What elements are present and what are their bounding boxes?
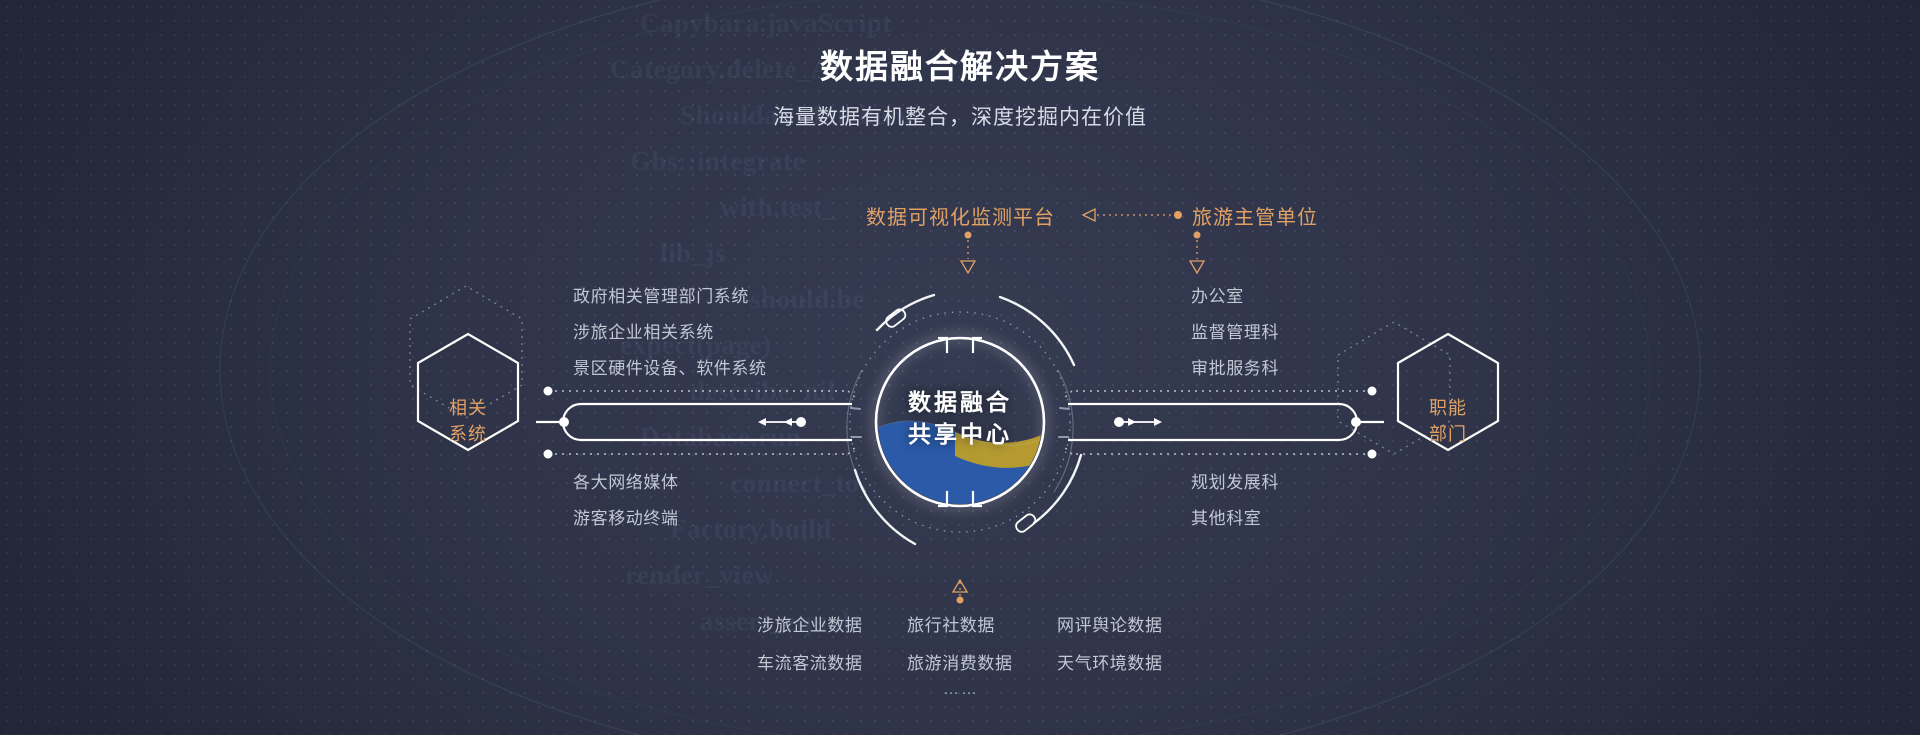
ring-marker-bottom [1014,512,1037,534]
right-bracket-node [1351,417,1361,427]
right-hexagon-label[interactable]: 职能 部门 [1408,395,1488,447]
bottom-item-r2c3[interactable]: 天气环境数据 [1057,649,1163,674]
bottom-dot [957,597,964,604]
left-flow-arrow-2 [784,418,792,426]
bottom-item-r2c1[interactable]: 车流客流数据 [757,649,863,674]
right-flow-arrow-2 [1128,418,1136,426]
bottom-data-connector [953,578,967,604]
left-item-0[interactable]: 政府相关管理部门系统 [573,282,749,307]
right-item-2[interactable]: 审批服务科 [1191,354,1279,379]
left-hexagon-label[interactable]: 相关 系统 [428,395,508,447]
page-subtitle: 海量数据有机整合，深度挖掘内在价值 [0,101,1920,131]
right-hexagon-label-line2: 部门 [1408,421,1488,447]
right-flow-node [1114,417,1124,427]
left-item-3[interactable]: 各大网络媒体 [573,468,679,493]
left-item-1[interactable]: 涉旅企业相关系统 [573,318,714,343]
authority-down-dot [1194,232,1201,239]
right-dot-top [1368,387,1377,396]
center-hub-label: 数据融合 共享中心 [880,386,1040,450]
bottom-item-r1c3[interactable]: 网评舆论数据 [1057,611,1163,636]
authority-connector [1190,232,1204,274]
right-item-4[interactable]: 其他科室 [1191,504,1261,529]
label-visualization-platform[interactable]: 数据可视化监测平台 [866,201,1055,230]
right-flow-arrow-1 [1154,418,1162,426]
right-bracket-lower [1068,422,1357,440]
right-item-3[interactable]: 规划发展科 [1191,468,1279,493]
bottom-arrow-up [953,580,967,592]
left-dot-top [544,387,553,396]
bottom-ellipsis: …… [943,681,979,699]
right-item-0[interactable]: 办公室 [1191,282,1244,307]
left-hexagon-label-line2: 系统 [428,421,508,447]
left-hexagon-label-line1: 相关 [428,395,508,421]
right-connector-group [1062,387,1384,459]
page-title: 数据融合解决方案 [0,40,1920,88]
platform-down-dot [965,232,972,239]
center-hub-line1: 数据融合 [880,386,1040,418]
left-item-2[interactable]: 景区硬件设备、软件系统 [573,354,767,379]
platform-arrow-down [961,261,975,273]
diagram-stage: Capybara.javaScript Category.delete_AL S… [0,0,1920,735]
center-hub-line2: 共享中心 [880,418,1040,450]
left-connector-group [536,387,858,459]
right-dot-bottom [1368,450,1377,459]
bottom-item-r2c2[interactable]: 旅游消费数据 [907,649,1013,674]
left-flow-node [796,417,806,427]
left-flow-arrow-1 [758,418,766,426]
right-item-1[interactable]: 监督管理科 [1191,318,1279,343]
platform-arrow-left [1083,209,1095,221]
authority-arrow-down [1190,261,1204,273]
bottom-item-r1c1[interactable]: 涉旅企业数据 [757,611,863,636]
ring-marker-top [884,307,907,329]
left-bracket-lower [563,422,852,440]
right-hexagon-label-line1: 职能 [1408,395,1488,421]
left-item-4[interactable]: 游客移动终端 [573,504,679,529]
bottom-item-r1c2[interactable]: 旅行社数据 [907,611,995,636]
left-dot-bottom [544,450,553,459]
left-bracket-node [559,417,569,427]
label-tourism-authority[interactable]: 旅游主管单位 [1192,201,1318,230]
platform-dot [1174,211,1182,219]
